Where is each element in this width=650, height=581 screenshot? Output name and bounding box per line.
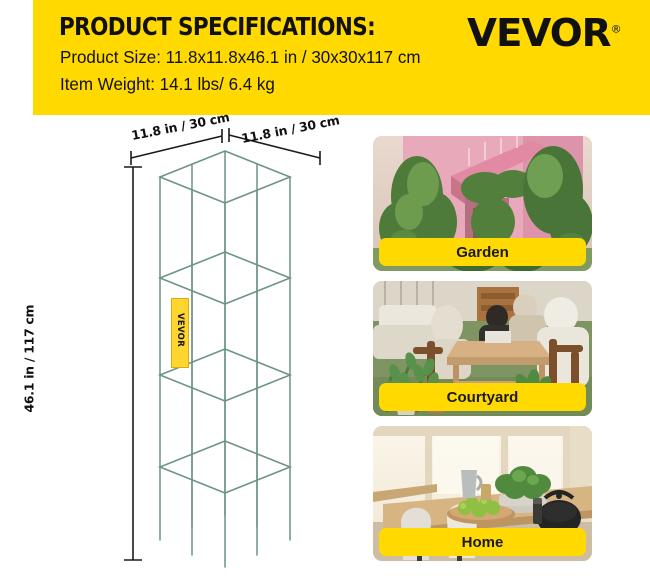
scenario-caption-courtyard: Courtyard	[379, 383, 586, 411]
scenario-caption-home: Home	[379, 528, 586, 556]
usage-scenario-cards: Garden	[373, 136, 595, 571]
dimension-label-height: 46.1 in / 117 cm	[22, 313, 37, 413]
product-brand-tag: VEVOR	[171, 298, 189, 368]
product-diagram: VEVOR	[0, 115, 362, 581]
product-brand-tag-label: VEVOR	[175, 297, 185, 363]
scenario-card-home[interactable]: Home	[373, 426, 592, 561]
scenario-card-courtyard[interactable]: Courtyard	[373, 281, 592, 416]
scenario-caption-garden: Garden	[379, 238, 586, 266]
registered-trademark-icon: ®	[611, 22, 622, 35]
page-title: PRODUCT SPECIFICATIONS:	[59, 12, 375, 41]
spec-product-size: Product Size: 11.8x11.8x46.1 in / 30x30x…	[60, 47, 420, 68]
header-band: PRODUCT SPECIFICATIONS: Product Size: 11…	[33, 0, 650, 115]
brand-name: VEVOR	[467, 11, 611, 55]
spec-item-weight: Item Weight: 14.1 lbs/ 6.4 kg	[60, 74, 275, 95]
vevor-logo: VEVOR®	[467, 14, 622, 52]
scenario-card-garden[interactable]: Garden	[373, 136, 592, 271]
